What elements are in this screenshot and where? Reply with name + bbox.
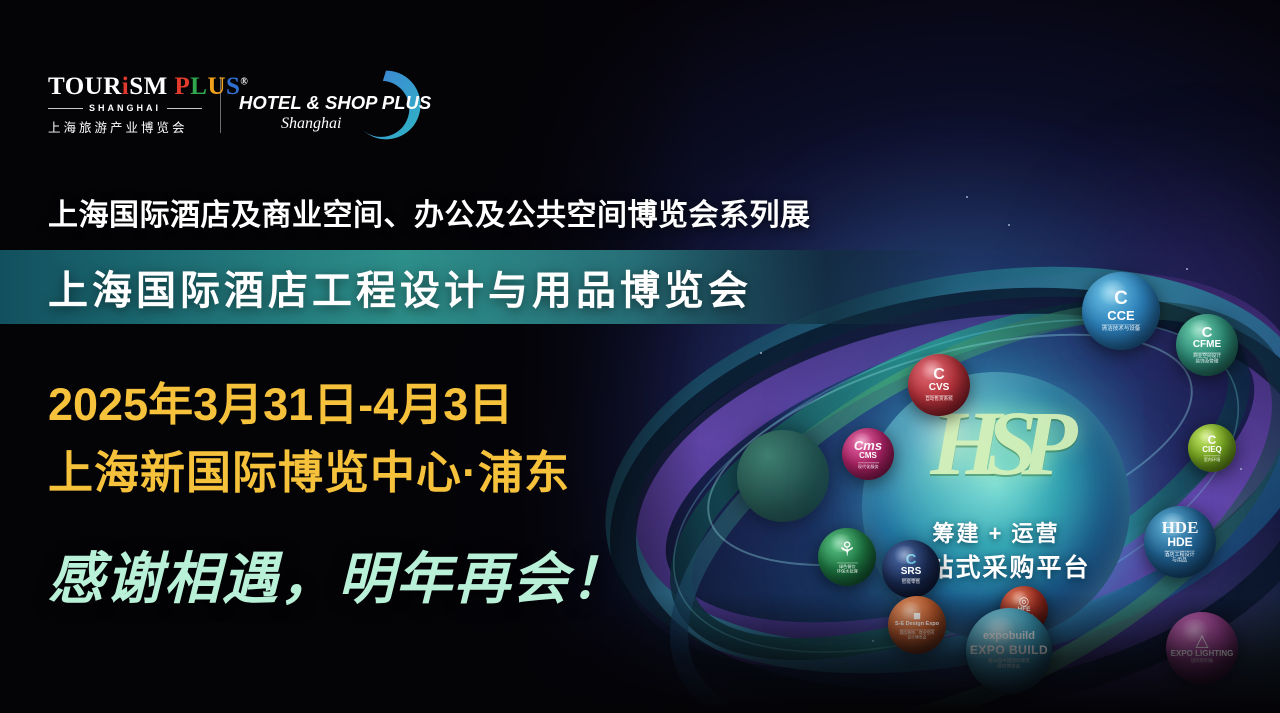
badge-srs-sub: 智能零售 (902, 579, 920, 586)
badge-cfme-mark: C (1202, 325, 1213, 340)
badge-hde-name: HDE (1167, 536, 1192, 549)
tourism-plus-logo: TOURiSM PLUS® SHANGHAI 上海旅游产业博览会 (48, 74, 202, 136)
rule-left (48, 108, 83, 109)
badge-cieq-sub: 室内环境 (1204, 455, 1221, 462)
badge-cms: Cms CMS 现代化服务 (842, 428, 894, 480)
main-title: 上海国际酒店工程设计与用品博览会 (48, 258, 752, 316)
badge-cfme-name: CFME (1193, 340, 1221, 351)
badge-srs-mark: C (906, 552, 917, 567)
badge-hde: HDE HDE 酒店工程设计 与用品 (1144, 506, 1216, 578)
badge-cms-mark: Cms (854, 439, 882, 452)
badge-green-leaf: ⚘ 绿色餐饮 环保水处理 (818, 528, 876, 586)
tourism-name-cn: 上海旅游产业博览会 (48, 117, 202, 136)
event-venue: 上海新国际博览中心·浦东 (48, 436, 570, 501)
badge-green-leaf-sub: 绿色餐饮 环保水处理 (837, 562, 858, 573)
plus-letter-p: P (174, 73, 190, 100)
logo-lockup: TOURiSM PLUS® SHANGHAI 上海旅游产业博览会 HOTEL &… (48, 68, 419, 142)
tourism-plus-wordmark: TOURiSM PLUS® (48, 74, 202, 99)
badge-cvs-sub: 自动售货系统 (925, 395, 953, 402)
badge-cieq-name: CIEQ (1202, 446, 1222, 454)
thanks-message: 感谢相遇，明年再会！ (48, 534, 628, 615)
badge-srs: C SRS 智能零售 (882, 540, 940, 598)
badge-cce-name: CCE (1107, 309, 1134, 323)
hsp-monogram: HSP (862, 390, 1130, 496)
rule-right (167, 108, 202, 109)
hsp-line1: HOTEL & SHOP PLUS (239, 92, 431, 114)
badge-hde-sub: 酒店工程设计 与用品 (1165, 551, 1195, 564)
badge-cms-sub: 现代化服务 (858, 462, 879, 469)
badge-cfme: C CFME 商业空间设计 装饰及管理 (1176, 314, 1238, 376)
badge-cvs: C CVS 自动售货系统 (908, 354, 970, 416)
poster-canvas: HSP 筹建 + 运营 一站式采购平台 C CCE 清洁技术与设备 C CFME… (0, 0, 1280, 713)
badge-cvs-mark: C (933, 367, 945, 383)
badge-green-leaf-mark: ⚘ (838, 540, 856, 560)
series-subtitle: 上海国际酒店及商业空间、办公及公共空间博览会系列展 (48, 190, 811, 234)
badge-cvs-name: CVS (929, 383, 950, 394)
badge-cieq: C CIEQ 室内环境 (1188, 424, 1236, 472)
hotel-shop-plus-logo: HOTEL & SHOP PLUS Shanghai (239, 68, 419, 142)
main-title-bar: 上海国际酒店工程设计与用品博览会 (0, 250, 960, 324)
badge-cce: C CCE 清洁技术与设备 (1082, 272, 1160, 350)
hsp-line2: Shanghai (281, 115, 341, 133)
tourism-city-row: SHANGHAI (48, 103, 202, 113)
badge-cce-sub: 清洁技术与设备 (1102, 325, 1141, 333)
event-date: 2025年3月31日-4月3日 (48, 368, 513, 433)
badge-srs-name: SRS (901, 567, 922, 578)
badge-cieq-mark: C (1208, 434, 1217, 446)
tourism-word-sm: SM (129, 73, 168, 100)
tourism-word-tour: TOUR (48, 73, 122, 100)
plus-letter-l: L (190, 73, 207, 100)
badge-hde-mark: HDE (1162, 519, 1199, 536)
plus-letter-u: U (207, 73, 226, 100)
badge-cce-mark: C (1114, 289, 1128, 308)
tourism-city-label: SHANGHAI (89, 103, 161, 113)
planetoid (737, 430, 829, 522)
badge-cfme-sub: 商业空间设计 装饰及管理 (1193, 352, 1221, 364)
badge-cms-name: CMS (859, 452, 877, 460)
